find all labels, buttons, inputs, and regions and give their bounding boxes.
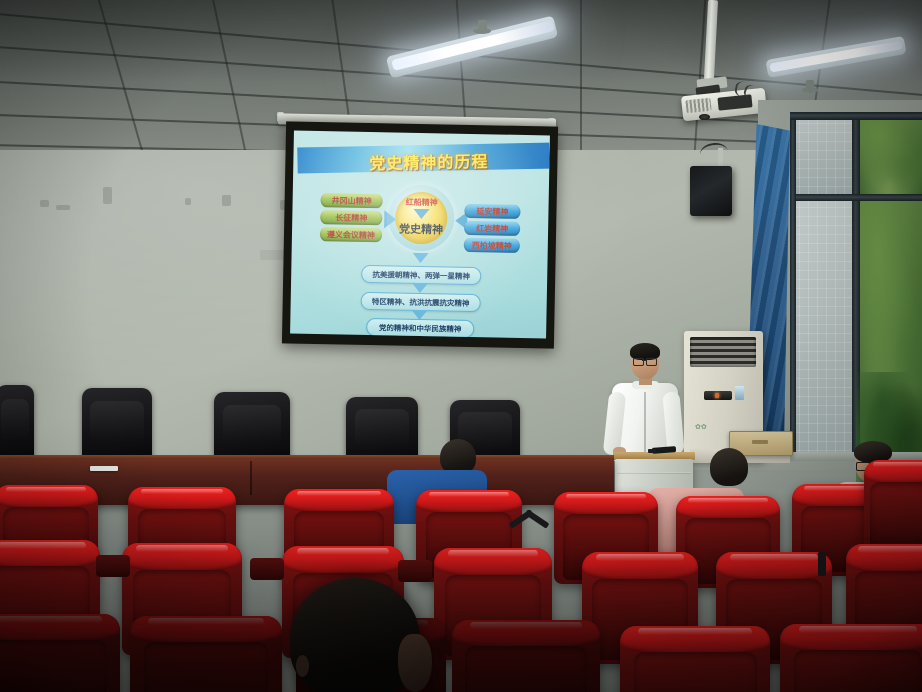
seat-armrest: [250, 558, 284, 580]
wall-mark: [222, 195, 231, 206]
slide-right-item-0: 延安精神: [464, 204, 520, 219]
slide-arrow-core-to-bottom: [412, 253, 428, 263]
slide-core-arrow-icon: [413, 209, 429, 219]
slide-right-item-1: 红岩精神: [464, 221, 520, 236]
seat-rim: [452, 620, 600, 649]
slide-arrow-bottom-1: [412, 283, 428, 293]
seat-rim: [282, 546, 404, 575]
seat-rim: [676, 496, 780, 520]
wall-speaker: [690, 166, 732, 216]
seat-highlight: [0, 616, 102, 622]
light-clip: [802, 87, 818, 93]
window-pane-foliage-upper-right: [858, 118, 922, 196]
seat-rim: [864, 460, 922, 484]
window-pane-frosted-lower-left: [790, 200, 856, 458]
table-seam: [250, 461, 252, 495]
wall-mark: [56, 205, 70, 210]
ac-brand-badge: [735, 386, 744, 400]
seat-highlight: [858, 546, 922, 552]
auditorium-seat[interactable]: [130, 616, 282, 692]
projector-lens: [699, 114, 710, 120]
seat-back-panel: [634, 652, 757, 692]
seat-highlight: [596, 554, 684, 560]
auditorium-seat[interactable]: [780, 624, 922, 692]
seat-rim: [0, 614, 120, 643]
seat-rim: [130, 616, 282, 645]
audience-head-right-front: [710, 448, 748, 486]
auditorium-seat[interactable]: [864, 460, 922, 552]
slide-core-main-label: 党史精神: [395, 221, 447, 238]
seat-highlight: [448, 550, 538, 556]
seat-highlight: [873, 462, 922, 467]
seat-rim: [620, 626, 770, 655]
seat-rim: [0, 540, 100, 569]
seat-rim: [122, 543, 242, 572]
presenter-glasses-right: [646, 358, 657, 366]
seat-back-panel: [794, 650, 922, 692]
seat-armrest: [398, 560, 432, 582]
seat-highlight: [429, 492, 510, 497]
ac-logo-text: ✿✿: [695, 423, 707, 431]
ac-status-led: [715, 393, 719, 398]
projector-vent: [685, 98, 711, 114]
light-clip: [473, 28, 491, 34]
seat-rim: [128, 487, 236, 511]
window-mullion-horizontal: [790, 194, 922, 201]
seat-highlight: [136, 545, 227, 551]
slide-left-item-2: 遵义会议精神: [320, 227, 382, 242]
microphone-stem: [648, 449, 656, 453]
seat-highlight: [566, 494, 645, 499]
slide-title: 党史精神的历程: [369, 148, 488, 174]
seat-highlight: [638, 628, 752, 634]
ac-air-grille: [690, 337, 756, 367]
seat-back-panel: [870, 482, 922, 548]
seat-rim: [780, 624, 922, 653]
seat-highlight: [148, 618, 264, 624]
foreground-person-ear: [296, 655, 309, 677]
seat-rim: [434, 548, 552, 577]
seat-highlight: [297, 548, 390, 554]
window-head-frame: [790, 112, 922, 120]
executive-chair[interactable]: [214, 392, 290, 462]
seat-back-panel: [465, 646, 586, 692]
slide-left-item-1: 长征精神: [320, 210, 382, 225]
presenter-glasses-bridge: [642, 360, 646, 361]
window-pane-frosted-upper-left: [790, 118, 856, 196]
slide-left-item-0: 井冈山精神: [321, 193, 383, 208]
executive-chair[interactable]: [0, 385, 34, 460]
seat-back-panel: [144, 642, 269, 692]
executive-chair[interactable]: [82, 388, 152, 460]
seat-highlight: [730, 554, 818, 560]
seat-highlight: [799, 626, 918, 632]
seat-back-panel: [0, 640, 107, 692]
auditorium-seat[interactable]: [620, 626, 770, 692]
lectern-panel-line: [617, 472, 691, 474]
seat-highlight: [297, 491, 381, 496]
auditorium-seat[interactable]: [0, 614, 120, 692]
wall-mark: [185, 198, 191, 205]
slide-right-item-2: 西柏坡精神: [464, 238, 520, 253]
seat-rim: [0, 485, 98, 509]
foreground-person-hand: [398, 634, 432, 692]
seat-highlight: [141, 489, 223, 494]
window-frame-left: [790, 118, 796, 458]
seat-highlight: [6, 487, 85, 492]
seat-rim: [284, 489, 394, 513]
seat-rim: [582, 552, 698, 581]
seat-highlight: [688, 498, 767, 503]
lecture-hall-photo: 党史精神的历程 井冈山精神 长征精神 遵义会议精神 红船精神 党史精神 延安精神…: [0, 0, 922, 692]
projected-slide: 党史精神的历程 井冈山精神 长征精神 遵义会议精神 红船精神 党史精神 延安精神…: [290, 131, 550, 339]
nameplate: [90, 466, 118, 471]
slide-bottom-item-2: 党的精神和中华民族精神: [366, 318, 474, 338]
seat-rim: [554, 492, 658, 516]
seat-rim: [846, 544, 922, 573]
wall-mark: [103, 187, 112, 204]
seat-highlight: [0, 542, 86, 548]
cabinet-handle: [752, 440, 768, 444]
seat-armrest-metal: [818, 552, 826, 576]
seat-highlight: [470, 622, 582, 628]
seat-armrest: [96, 555, 130, 577]
seat-armrest-metal: [525, 509, 550, 529]
presenter-shirt-placket: [644, 392, 646, 458]
wall-mark: [40, 200, 49, 207]
slide-core-top-label: 红船精神: [396, 197, 448, 209]
seat-rim: [416, 490, 522, 514]
seat-rim: [716, 552, 832, 581]
auditorium-seat[interactable]: [452, 620, 600, 692]
